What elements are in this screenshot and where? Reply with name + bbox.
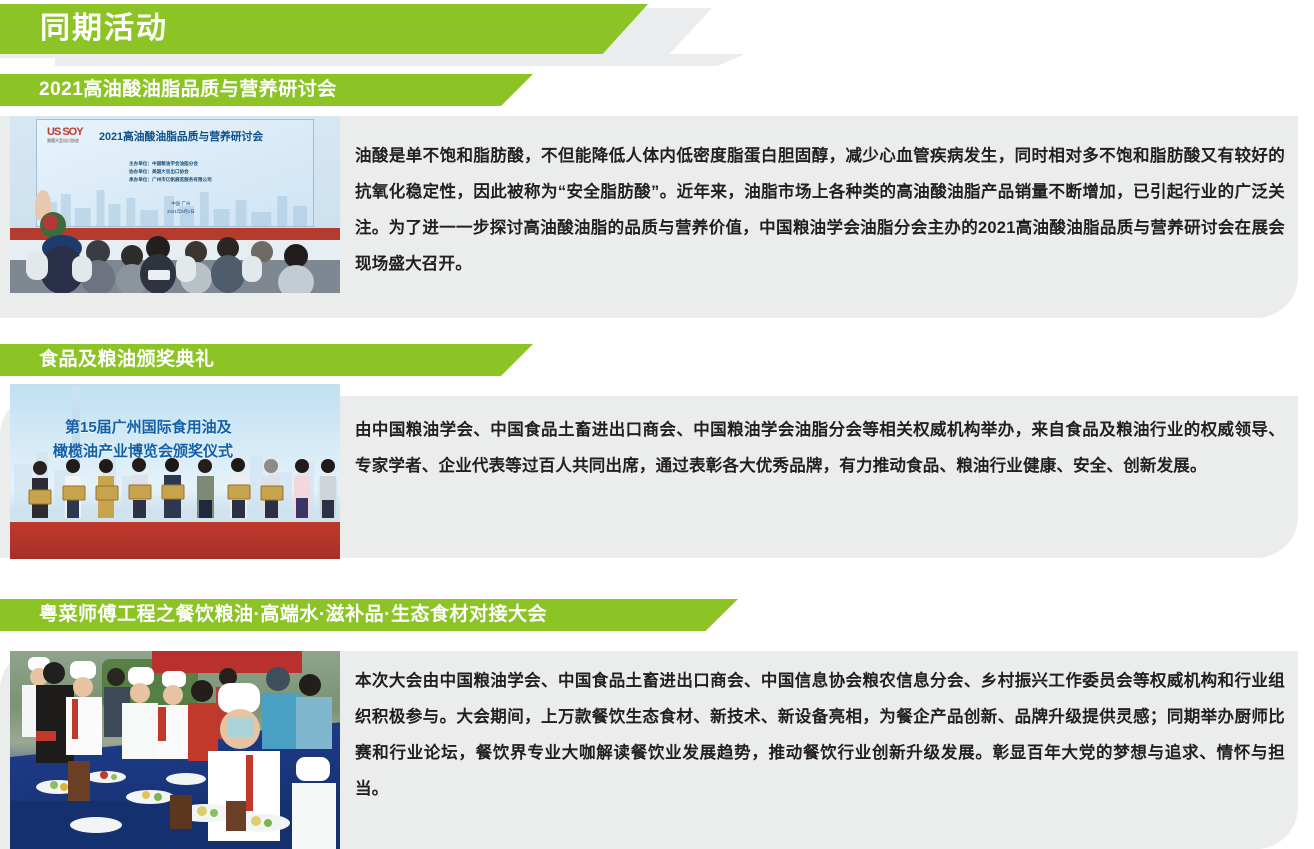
main-header: 同期活动 xyxy=(0,4,760,66)
section-title-chef: 粤菜师傅工程之餐饮粮油·高端水·滋补品·生态食材对接大会 xyxy=(39,599,547,631)
us-soy-logo: US SOY 美国大豆出口协会 xyxy=(47,126,83,144)
brochure-page: 同期活动 2021高油酸油脂品质与营养研讨会 xyxy=(0,0,1314,849)
red-carpet xyxy=(10,522,340,559)
award-recipients xyxy=(10,456,340,526)
section-body: 第15届广州国际食用油及 橄榄油产业博览会颁奖仪式 xyxy=(0,384,1314,569)
screen-organizer-lines: 主办单位：中国粮油学会油脂分会 协办单位：美国大豆出口协会 承办单位：广州市亿帆… xyxy=(129,160,212,184)
section-paragraph-chef: 本次大会由中国粮油学会、中国食品土畜进出口商会、中国信息协会粮农信息分会、乡村振… xyxy=(355,663,1285,807)
section-paragraph-seminar: 油酸是单不饱和脂肪酸，不但能降低人体内低密度脂蛋白胆固醇，减少心血管疾病发生，同… xyxy=(355,138,1285,282)
section-award: 食品及粮油颁奖典礼 第15届广州国际食用油及 橄榄油产业博览会颁奖仪式 xyxy=(0,344,1314,569)
section-paragraph-award: 由中国粮油学会、中国食品土畜进出口商会、中国粮油学会油脂分会等相关权威机构举办，… xyxy=(355,412,1285,484)
audience-figures xyxy=(10,212,340,293)
chef-figures xyxy=(10,651,340,849)
section-chef: 粤菜师傅工程之餐饮粮油·高端水·滋补品·生态食材对接大会 xyxy=(0,599,1314,849)
section-body: US SOY 美国大豆出口协会 2021高油酸油脂品质与营养研讨会 主办单位：中… xyxy=(0,116,1314,328)
projection-screen: US SOY 美国大豆出口协会 2021高油酸油脂品质与营养研讨会 主办单位：中… xyxy=(36,119,314,227)
page-title: 同期活动 xyxy=(40,6,168,52)
banner-line-1: 第15届广州国际食用油及 xyxy=(65,416,232,437)
section-body: 本次大会由中国粮油学会、中国食品土畜进出口商会、中国信息协会粮农信息分会、乡村振… xyxy=(0,639,1314,849)
section-title-award: 食品及粮油颁奖典礼 xyxy=(39,344,215,376)
section-seminar: 2021高油酸油脂品质与营养研讨会 xyxy=(0,74,1314,328)
chef-competition-photo xyxy=(10,651,340,849)
seminar-photo: US SOY 美国大豆出口协会 2021高油酸油脂品质与营养研讨会 主办单位：中… xyxy=(10,116,340,293)
award-ceremony-photo: 第15届广州国际食用油及 橄榄油产业博览会颁奖仪式 xyxy=(10,384,340,559)
section-title-seminar: 2021高油酸油脂品质与营养研讨会 xyxy=(39,74,337,106)
screen-title: 2021高油酸油脂品质与营养研讨会 xyxy=(99,128,263,144)
